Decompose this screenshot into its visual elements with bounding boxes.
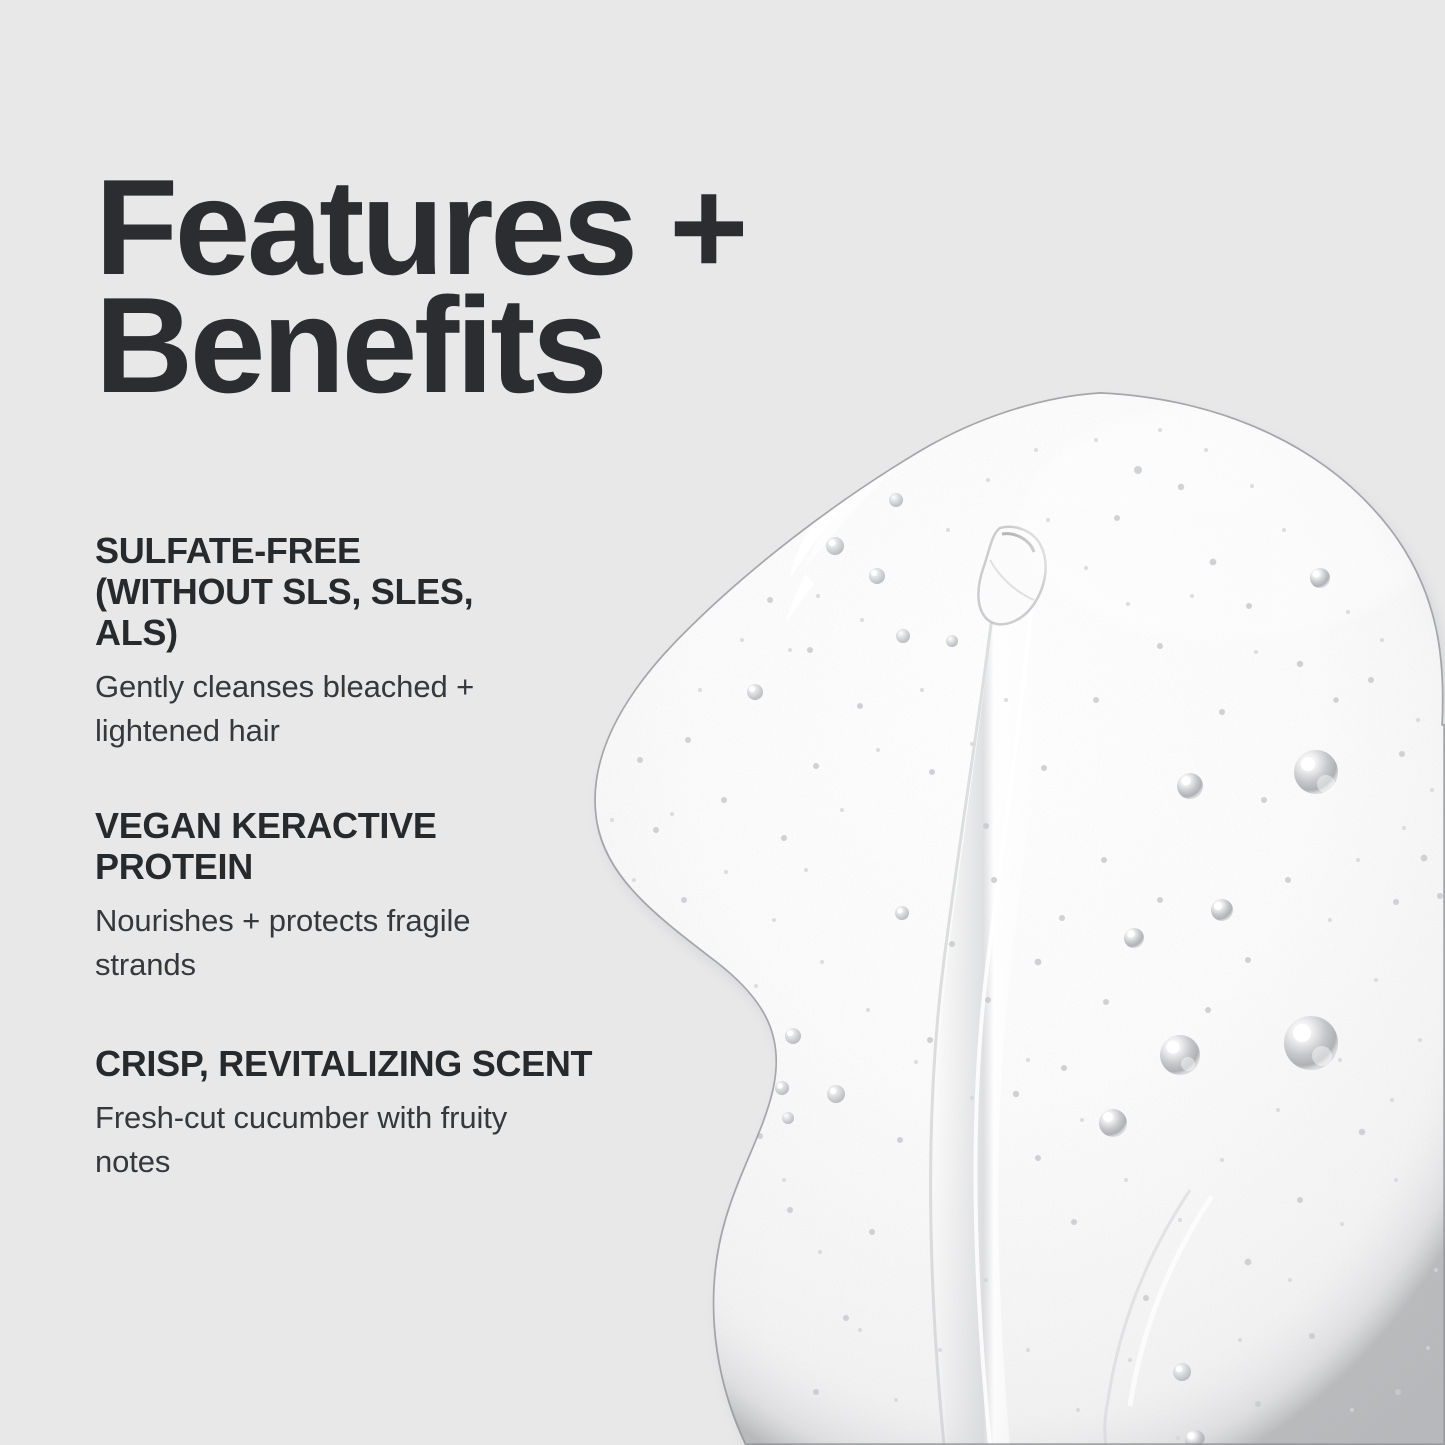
feature-description: Nourishes + protects fragile strands xyxy=(95,899,565,987)
page-title: Features +Benefits xyxy=(95,168,795,404)
feature-block-crisp-revitalizing-scent: CRISP, REVITALIZING SCENT Fresh-cut cucu… xyxy=(95,1043,625,1184)
feature-description: Gently cleanses bleached + lightened hai… xyxy=(95,665,565,753)
page-title-line-2: Benefits xyxy=(95,269,604,421)
gel-bubbles-fine xyxy=(610,428,1438,1440)
feature-title: VEGAN KERACTIVE PROTEIN xyxy=(95,805,565,887)
gel-shadow xyxy=(599,400,1445,1445)
feature-block-sulfate-free: SULFATE-FREE (WITHOUT SLS, SLES, ALS) Ge… xyxy=(95,530,625,753)
gel-peak-hook xyxy=(978,527,1045,625)
feature-list: SULFATE-FREE (WITHOUT SLS, SLES, ALS) Ge… xyxy=(95,530,625,1184)
feature-title: SULFATE-FREE (WITHOUT SLS, SLES, ALS) xyxy=(95,530,495,653)
gel-outline xyxy=(594,392,1445,1445)
gel-crease xyxy=(931,540,1042,1445)
gel-bubbles-large xyxy=(672,493,1338,1445)
feature-block-vegan-keractive-protein: VEGAN KERACTIVE PROTEIN Nourishes + prot… xyxy=(95,805,625,987)
gel-gloss-highlight xyxy=(786,410,940,622)
gel-crease-secondary xyxy=(1105,1190,1212,1445)
product-feature-card: Features +Benefits SULFATE-FREE (WITHOUT… xyxy=(0,0,1445,1445)
text-column: Features +Benefits SULFATE-FREE (WITHOUT… xyxy=(95,0,715,1445)
gel-sheen xyxy=(1020,400,1440,640)
feature-title: CRISP, REVITALIZING SCENT xyxy=(95,1043,595,1084)
gel-body xyxy=(594,392,1445,1445)
feature-description: Fresh-cut cucumber with fruity notes xyxy=(95,1096,565,1184)
gel-bubbles-medium xyxy=(637,466,1443,1407)
